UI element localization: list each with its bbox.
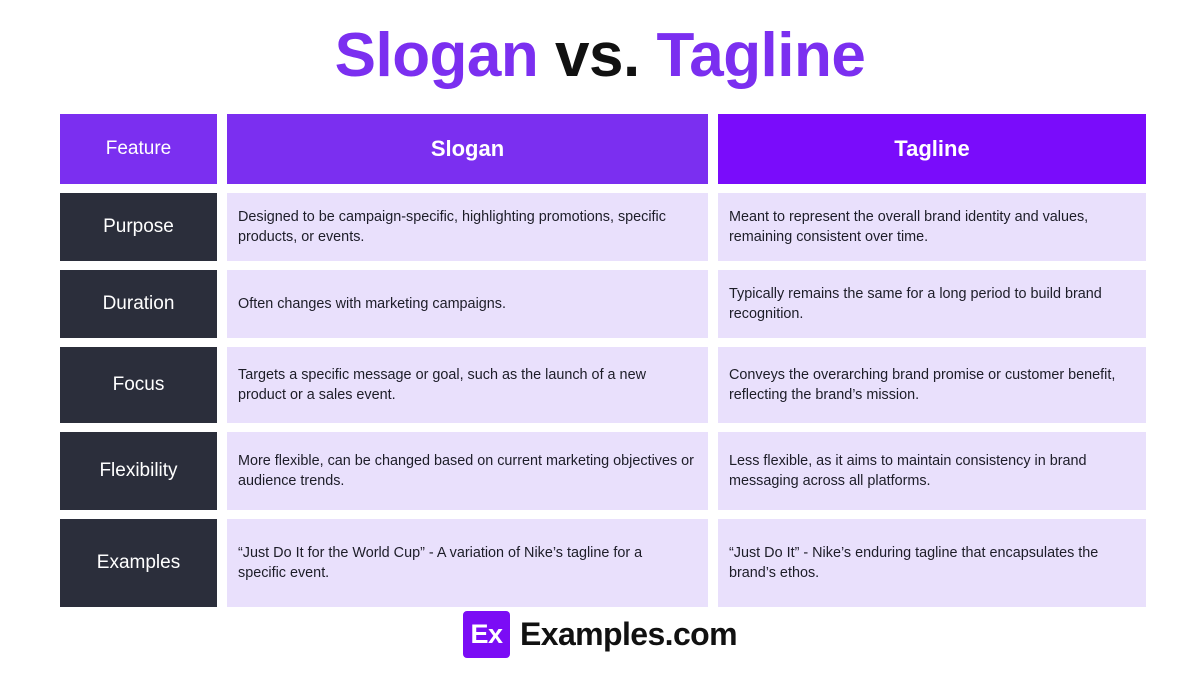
infographic-page: Slogan vs. Tagline Feature Slogan Taglin… xyxy=(0,0,1200,675)
comparison-table: Feature Slogan Tagline Purpose Designed … xyxy=(60,114,1145,607)
cell-tagline-flexibility: Less flexible, as it aims to maintain co… xyxy=(718,432,1146,510)
cell-tagline-purpose: Meant to represent the overall brand ide… xyxy=(718,193,1146,261)
examples-logo-icon: Ex xyxy=(463,611,510,658)
row-label-focus: Focus xyxy=(60,347,217,423)
page-title: Slogan vs. Tagline xyxy=(0,17,1200,95)
cell-slogan-duration: Often changes with marketing campaigns. xyxy=(227,270,708,338)
cell-text: “Just Do It for the World Cup” - A varia… xyxy=(238,543,694,583)
title-part-tagline: Tagline xyxy=(656,21,865,90)
table-row: Purpose Designed to be campaign-specific… xyxy=(60,193,1145,261)
cell-text: Conveys the overarching brand promise or… xyxy=(729,365,1132,405)
column-header-feature: Feature xyxy=(60,114,217,184)
brand-name: Examples.com xyxy=(520,616,737,653)
row-label-purpose: Purpose xyxy=(60,193,217,261)
cell-text: More flexible, can be changed based on c… xyxy=(238,451,694,491)
cell-text: Less flexible, as it aims to maintain co… xyxy=(729,451,1132,491)
cell-slogan-examples: “Just Do It for the World Cup” - A varia… xyxy=(227,519,708,607)
cell-slogan-focus: Targets a specific message or goal, such… xyxy=(227,347,708,423)
cell-text: Designed to be campaign-specific, highli… xyxy=(238,207,694,247)
cell-tagline-examples: “Just Do It” - Nike’s enduring tagline t… xyxy=(718,519,1146,607)
cell-slogan-purpose: Designed to be campaign-specific, highli… xyxy=(227,193,708,261)
footer-branding: Ex Examples.com xyxy=(0,611,1200,658)
table-row: Flexibility More flexible, can be change… xyxy=(60,432,1145,510)
title-part-vs: vs. xyxy=(538,21,656,90)
cell-text: “Just Do It” - Nike’s enduring tagline t… xyxy=(729,543,1132,583)
row-label-examples: Examples xyxy=(60,519,217,607)
cell-text: Targets a specific message or goal, such… xyxy=(238,365,694,405)
row-label-flexibility: Flexibility xyxy=(60,432,217,510)
cell-slogan-flexibility: More flexible, can be changed based on c… xyxy=(227,432,708,510)
cell-tagline-duration: Typically remains the same for a long pe… xyxy=(718,270,1146,338)
row-label-duration: Duration xyxy=(60,270,217,338)
column-header-slogan: Slogan xyxy=(227,114,708,184)
cell-text: Meant to represent the overall brand ide… xyxy=(729,207,1132,247)
table-row: Focus Targets a specific message or goal… xyxy=(60,347,1145,423)
table-row: Examples “Just Do It for the World Cup” … xyxy=(60,519,1145,607)
cell-tagline-focus: Conveys the overarching brand promise or… xyxy=(718,347,1146,423)
title-part-slogan: Slogan xyxy=(335,21,539,90)
cell-text: Typically remains the same for a long pe… xyxy=(729,284,1132,324)
table-row: Duration Often changes with marketing ca… xyxy=(60,270,1145,338)
column-header-tagline: Tagline xyxy=(718,114,1146,184)
table-header-row: Feature Slogan Tagline xyxy=(60,114,1145,184)
cell-text: Often changes with marketing campaigns. xyxy=(238,294,506,314)
